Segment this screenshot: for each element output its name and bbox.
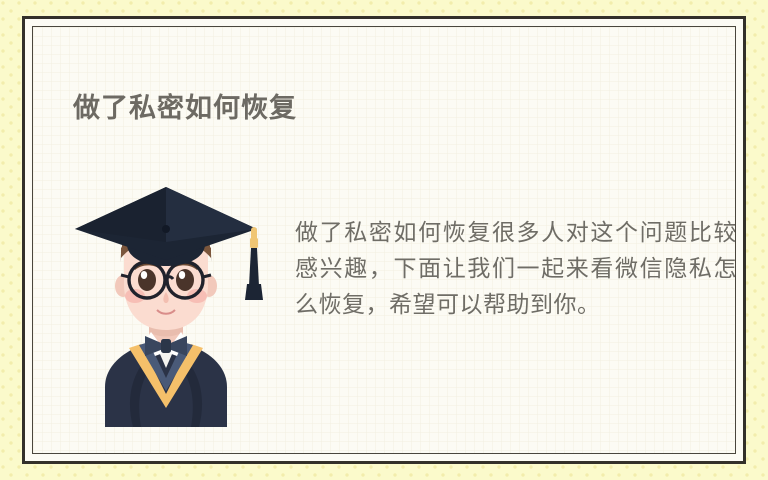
article-body-text: 做了私密如何恢复很多人对这个问题比较感兴趣，下面让我们一起来看微信隐私怎么恢复，… bbox=[295, 215, 736, 323]
tassel bbox=[245, 230, 263, 300]
graduate-student-avatar-illustration bbox=[61, 182, 271, 427]
article-frame-outer: 做了私密如何恢复 bbox=[22, 16, 746, 464]
page-title: 做了私密如何恢复 bbox=[73, 91, 297, 126]
article-content: 做了私密如何恢复很多人对这个问题比较感兴趣，下面让我们一起来看微信隐私怎么恢复，… bbox=[33, 182, 735, 442]
gown-group bbox=[105, 320, 227, 427]
article-frame-inner: 做了私密如何恢复 bbox=[32, 26, 736, 454]
bow-tie bbox=[145, 336, 187, 356]
page-background: 做了私密如何恢复 bbox=[0, 0, 768, 480]
